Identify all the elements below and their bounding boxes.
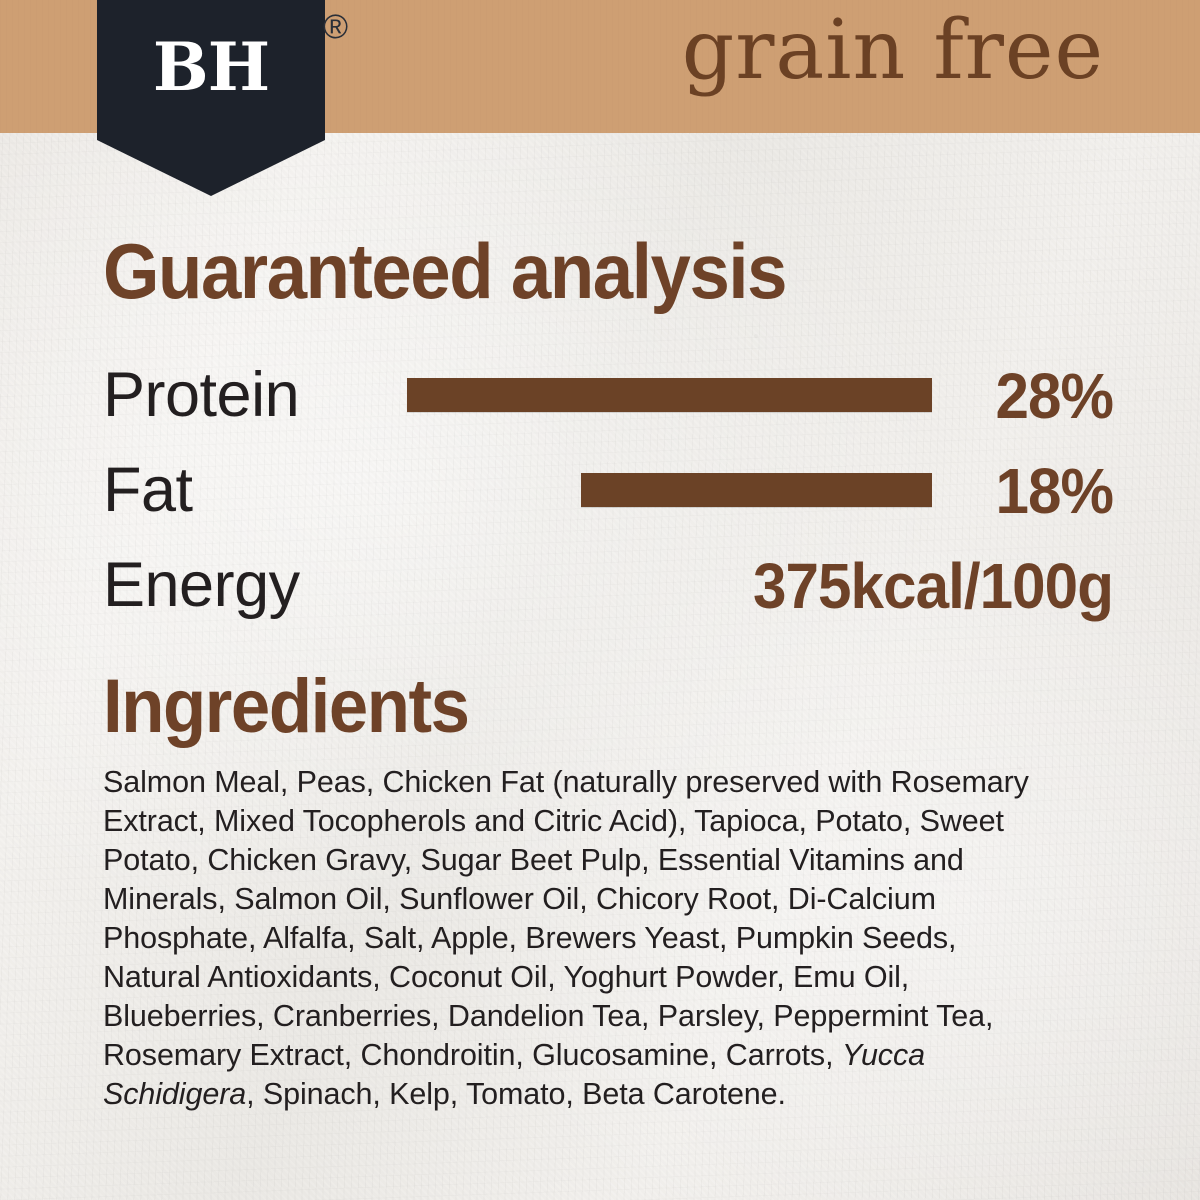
label-content: Guaranteed analysis Protein 28% Fat 18% … — [0, 133, 1200, 1200]
analysis-label-protein: Protein — [103, 352, 299, 438]
guaranteed-analysis-heading: Guaranteed analysis — [103, 232, 786, 310]
analysis-row-protein: Protein 28% — [103, 352, 1113, 438]
ingredients-text-prefix: Salmon Meal, Peas, Chicken Fat (naturall… — [103, 765, 1029, 1072]
ingredients-body: Salmon Meal, Peas, Chicken Fat (naturall… — [103, 763, 1058, 1114]
product-label-panel: grain free BH ® Guaranteed analysis Prot… — [0, 0, 1200, 1200]
analysis-bar-fat — [581, 473, 932, 507]
analysis-value-fat: 18% — [995, 447, 1113, 535]
analysis-bar-protein — [407, 378, 932, 412]
analysis-value-energy: 375kcal/100g — [753, 542, 1113, 630]
analysis-row-energy: Energy 375kcal/100g — [103, 542, 1113, 628]
analysis-row-fat: Fat 18% — [103, 447, 1113, 533]
ingredients-text-suffix: , Spinach, Kelp, Tomato, Beta Carotene. — [246, 1077, 786, 1111]
ingredients-heading: Ingredients — [103, 669, 469, 745]
analysis-label-fat: Fat — [103, 447, 193, 533]
analysis-value-protein: 28% — [995, 352, 1113, 440]
registered-trademark-icon: ® — [323, 10, 348, 44]
analysis-label-energy: Energy — [103, 542, 300, 628]
brand-shield-logo: BH — [97, 0, 325, 196]
grain-free-tagline: grain free — [682, 10, 1104, 92]
